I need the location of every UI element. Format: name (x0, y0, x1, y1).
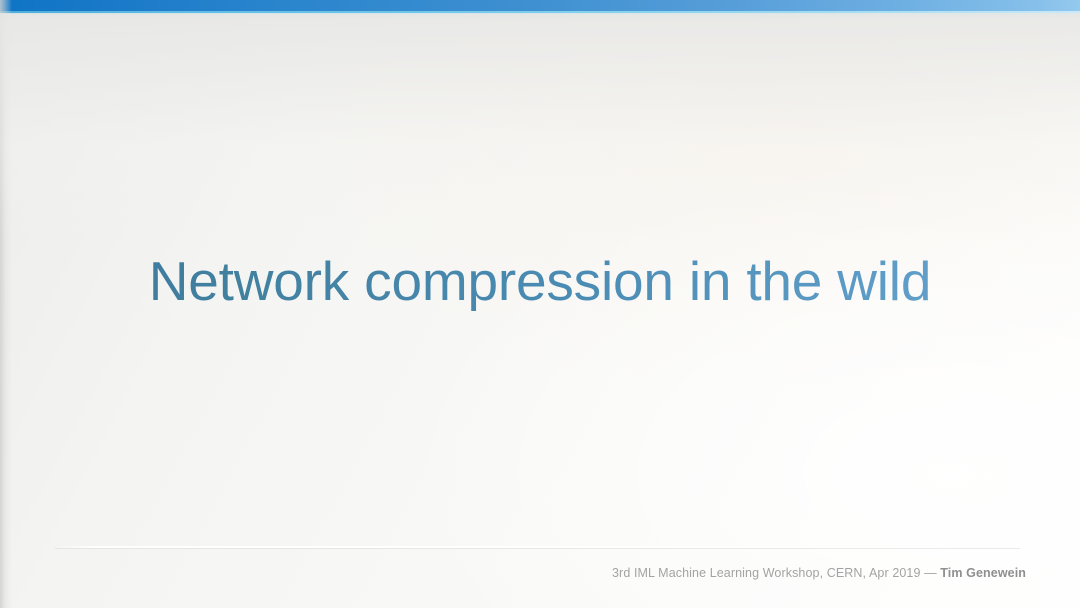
footer-event-label: 3rd IML Machine Learning Workshop, CERN,… (612, 566, 921, 580)
footer-text: 3rd IML Machine Learning Workshop, CERN,… (612, 566, 1026, 580)
top-accent-bar (0, 0, 1080, 11)
presentation-slide: Network compression in the wild 3rd IML … (0, 0, 1080, 608)
top-accent-bar-fade (0, 14, 1080, 20)
footer-divider (55, 546, 1020, 548)
slide-title: Network compression in the wild (0, 252, 1080, 311)
background-haze (0, 13, 1080, 243)
footer-separator: — (921, 566, 941, 580)
footer-author-label: Tim Genewein (940, 566, 1026, 580)
